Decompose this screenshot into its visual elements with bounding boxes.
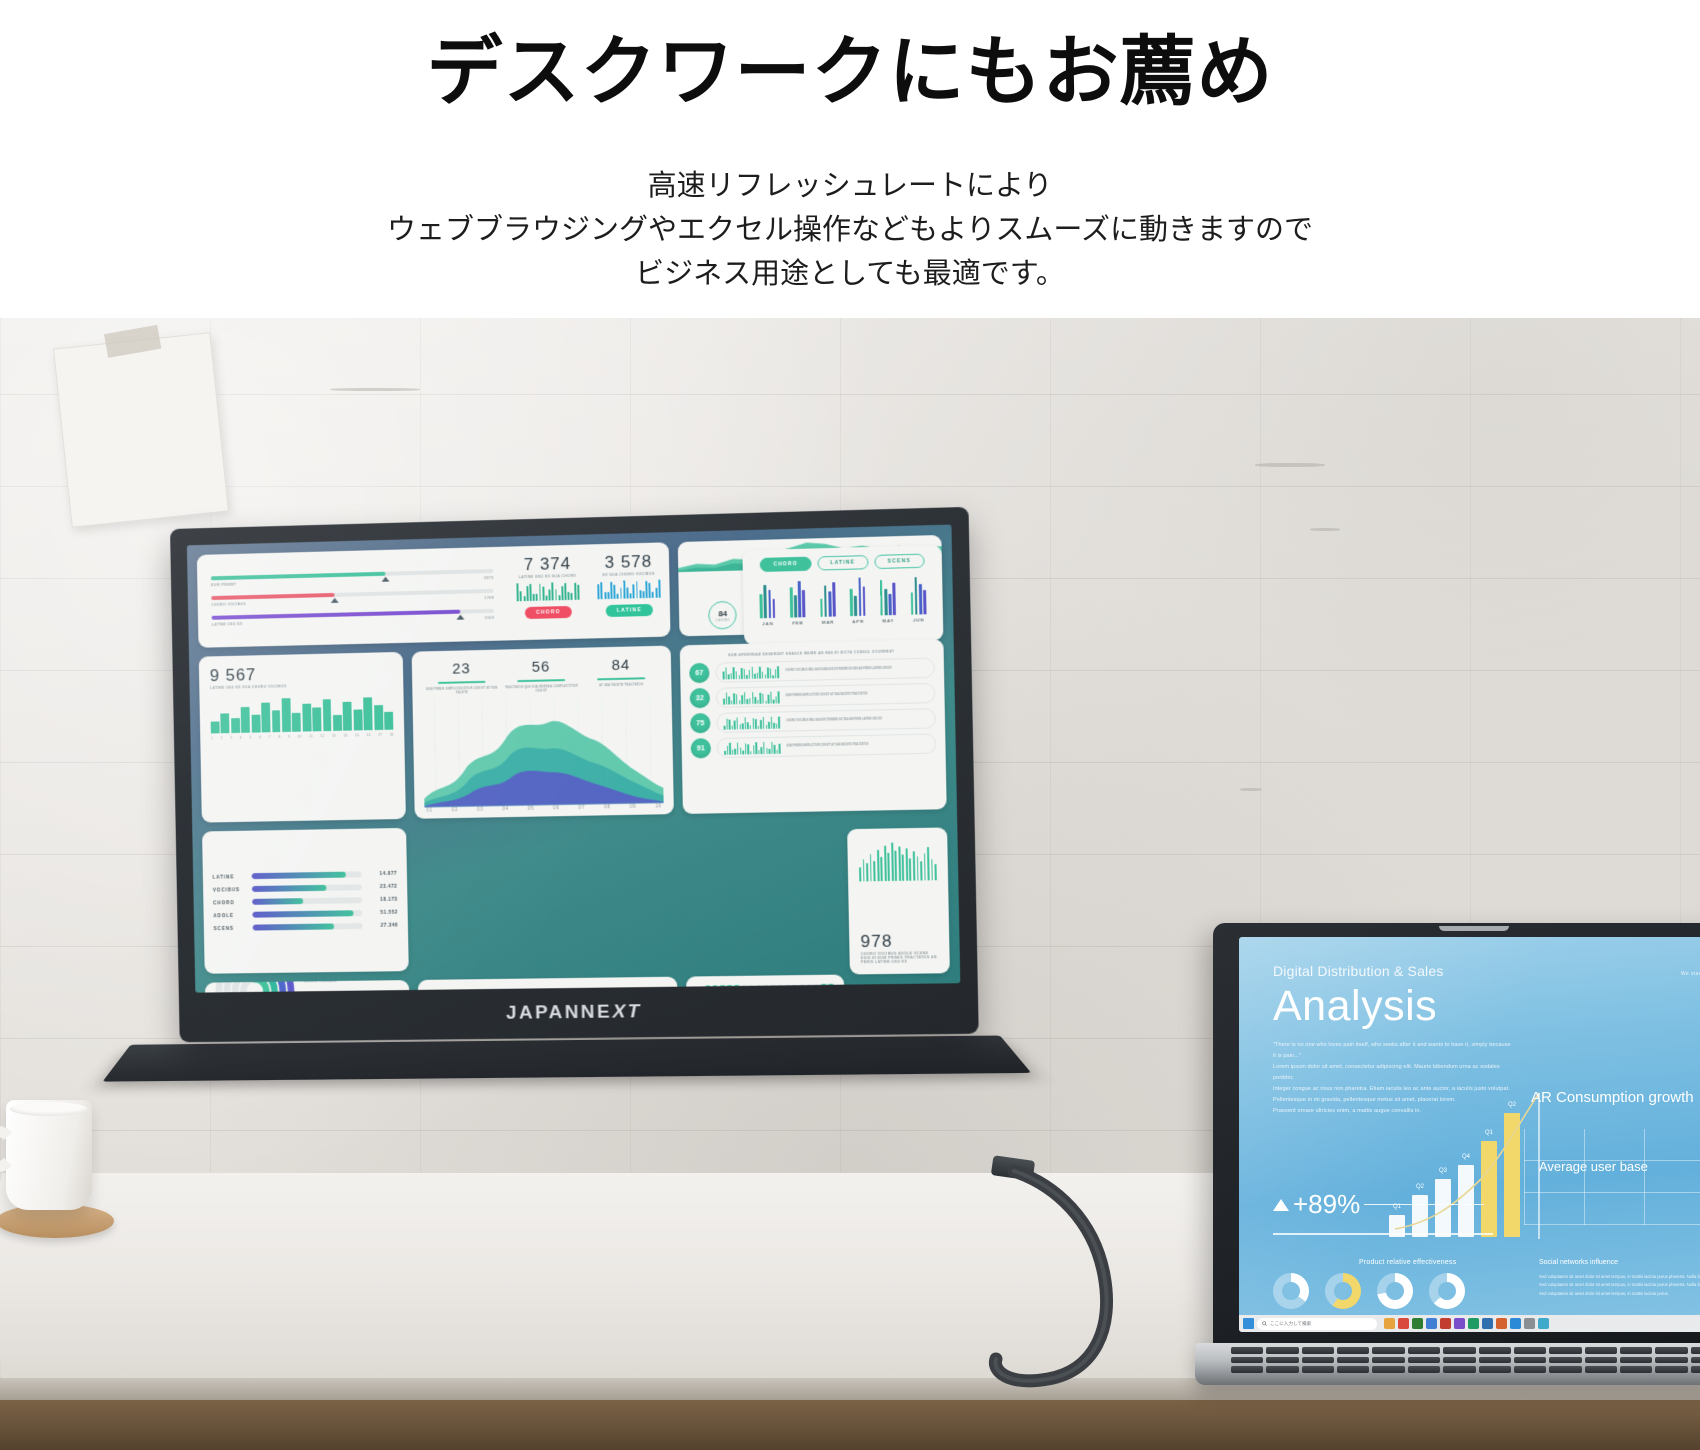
card-big-area-chart[interactable]: 23EUM PRIMIS SIMPLICES ETIUR CUM ET AT S…: [412, 646, 674, 819]
list-pill[interactable]: CHORO VOCIBUS MEL EAS EXOTENDRE DICTAS A…: [716, 708, 936, 733]
dashboard: EUM PRIMET2575 CHORO VOCIBUS1768 LATINE …: [187, 525, 960, 993]
month-label: FEB: [792, 620, 803, 625]
windows-taskbar[interactable]: ここに入力して検索: [1239, 1315, 1700, 1332]
sparkline: [513, 582, 582, 602]
card-9567[interactable]: 9 567 LATINE USU EX SUA CHORO VOCIBUS 12…: [199, 652, 406, 823]
page-title: デスクワークにもお薦め: [427, 28, 1274, 118]
donut-gauge: 72%: [1377, 1273, 1413, 1309]
slide-product-title: Product relative effectiveness: [1359, 1259, 1456, 1266]
tab-choro[interactable]: CHORO: [760, 557, 811, 572]
kpi-caption: EX SUA CHORO VOCIBUS: [594, 572, 663, 578]
card-list-panel[interactable]: EUM APERIRIAM DESERUNT KRASCE IMURE AN H…: [680, 639, 947, 814]
slide-paragraph: Pellentesque in mi gravida, pellentesque…: [1273, 1095, 1513, 1106]
search-placeholder: ここに入力して検索: [1270, 1321, 1311, 1327]
slider-knob[interactable]: [331, 597, 339, 602]
list-pill[interactable]: EUM PRIMIS SIMPLICITUR CUM ET AT SEA FAC…: [717, 733, 937, 758]
donut-legend-item[interactable]: 38.552CHORO VOCIBUS: [303, 980, 400, 987]
slider-row[interactable]: LATINE USU EX3102: [212, 608, 495, 626]
slide-paragraph: Sed voluptatem sit amet dolor sit amet t…: [1539, 1273, 1700, 1281]
subcopy-line-3: ビジネス用途としても最適です。: [387, 252, 1313, 296]
donut-label: 60%: [1337, 1319, 1348, 1325]
month-label: MAY: [882, 618, 894, 623]
slide-bar: Q2: [1504, 1113, 1520, 1237]
stat-value: 23: [422, 660, 502, 679]
hbar-fill: [252, 885, 327, 892]
card-sliders[interactable]: EUM PRIMET2575 CHORO VOCIBUS1768 LATINE …: [197, 542, 671, 648]
slide-bar: Q2: [1412, 1195, 1428, 1237]
slide-bar-label: Q4: [1462, 1154, 1470, 1160]
hbar-name: LATINE: [213, 874, 246, 879]
laptop: Digital Distribution & Sales Analysis "T…: [1195, 923, 1700, 1403]
subcopy-line-2: ウェブブラウジングやエクセル操作などもよりスムーズに動きますので: [387, 208, 1313, 252]
slide-social-title: Social networks influence: [1539, 1259, 1618, 1266]
stat-triplet: 23EUM PRIMIS SIMPLICES ETIUR CUM ET AT S…: [422, 656, 662, 696]
taskbar-icon-app[interactable]: [1398, 1318, 1409, 1329]
slide-paragraph: Sed voluptatem sit amet dolor sit amet t…: [1539, 1281, 1700, 1289]
slider-knob[interactable]: [456, 614, 464, 619]
stat-tile[interactable]: 56TRACTATOS QUE SUA MNESEA COMPLECTITUR …: [501, 658, 581, 694]
stat-value: 56: [501, 658, 581, 677]
month-label: JUN: [913, 617, 925, 622]
stat-caption: TRACTATOS QUE SUA MNESEA COMPLECTITUR CU…: [501, 684, 581, 694]
month-label: JAN: [762, 621, 773, 626]
brand-logo: JAPANNEXT: [506, 1001, 642, 1025]
laptop-base: [1195, 1343, 1700, 1385]
hbar-row[interactable]: CHORO18.173: [213, 897, 398, 906]
hbar-track: [252, 897, 362, 905]
taskbar-icon-app[interactable]: [1426, 1318, 1437, 1329]
paper-note: [53, 332, 229, 528]
list-item[interactable]: 32EUM PRIMIS SIMPLICITUR CUM ET AT SEA F…: [690, 683, 936, 708]
monthly-bar-chart: JANFEBMARAPRMAYJUN: [752, 576, 934, 627]
kpi-tile[interactable]: 7 374 LATINE USU EX SUA CHORO CHORO: [507, 544, 590, 640]
list-badge: 75: [690, 713, 711, 734]
donut-gauge: 35%: [1273, 1273, 1309, 1309]
sparkline: [723, 690, 780, 704]
donut-label: 63%: [1441, 1319, 1452, 1325]
product-photo: EUM PRIMET2575 CHORO VOCIBUS1768 LATINE …: [0, 318, 1700, 1450]
taskbar-icon-app[interactable]: [1454, 1318, 1465, 1329]
slider-label: CHORO VOCIBUS: [211, 602, 246, 607]
list-caption: EUM PRIMIS SIMPLICITUR CUM ET AT SEA FAC…: [786, 693, 868, 699]
list-badge: 91: [691, 738, 712, 758]
x-axis-labels: 123456789101112131415161718: [211, 733, 394, 741]
hbar-fill: [253, 923, 334, 930]
hbar-fill: [252, 910, 353, 917]
list-item[interactable]: 67CHORO VOCIBUS MEL EAS SUADIS EXOTENDRE…: [689, 658, 935, 684]
taskbar-icon-app[interactable]: [1510, 1318, 1521, 1329]
page-header: デスクワークにもお薦め 高速リフレッシュレートにより ウェブブラウジングやエクセ…: [0, 0, 1700, 318]
brand-text: JAPANNE: [506, 1002, 612, 1024]
slider-label: LATINE USU EX: [212, 622, 243, 627]
triangle-up-icon: [1273, 1199, 1289, 1211]
hbar-value: 51.552: [368, 910, 398, 916]
slider-row[interactable]: CHORO VOCIBUS1768: [211, 588, 494, 606]
month-label: APR: [852, 619, 864, 624]
badge-value: 84: [718, 609, 727, 618]
slider-knob[interactable]: [381, 576, 389, 581]
kpi-group: 7 374 LATINE USU EX SUA CHORO CHORO 3 57…: [507, 542, 671, 640]
stat-underline: [438, 681, 486, 684]
stat-tile[interactable]: 23EUM PRIMIS SIMPLICES ETIUR CUM ET AT S…: [422, 660, 502, 696]
slide-trend-line: [1389, 1087, 1559, 1239]
slide-bar: Q1: [1481, 1141, 1497, 1237]
slider-fill: [211, 592, 335, 599]
month-bar-group[interactable]: JUN: [910, 574, 926, 623]
donut-caption: CHORO VOCIBUS: [304, 980, 337, 983]
slider-value: 2575: [484, 575, 493, 579]
list-pill[interactable]: CHORO VOCIBUS MEL EAS SUADIS EXOTENDRE D…: [715, 658, 935, 683]
slide-bar-label: Q1: [1485, 1130, 1493, 1136]
search-input[interactable]: ここに入力して検索: [1257, 1318, 1377, 1330]
sparkline: [724, 740, 781, 754]
list-item[interactable]: 91EUM PRIMIS SIMPLICITUR CUM ET AT SEA F…: [691, 733, 937, 758]
monitor-screen[interactable]: EUM PRIMET2575 CHORO VOCIBUS1768 LATINE …: [187, 525, 960, 993]
slide-growth: +89%: [1273, 1189, 1484, 1220]
card-monthly-bars[interactable]: CHORO LATINE SCENS JANFEBMARAPRMAYJUN: [742, 545, 943, 645]
kpi-tile[interactable]: 3 578 EX SUA CHORO VOCIBUS LATINE: [588, 542, 671, 638]
slide-grid-lines: [1524, 1129, 1700, 1225]
hbar-value: 18.173: [368, 897, 398, 903]
laptop-camera-notch: [1439, 926, 1509, 931]
taskbar-icon-app[interactable]: [1524, 1318, 1535, 1329]
month-bar-group[interactable]: MAR: [819, 576, 835, 625]
page-subcopy: 高速リフレッシュレートにより ウェブブラウジングやエクセル操作などもよりスムーズ…: [387, 164, 1313, 296]
hbar-value: 23.472: [368, 884, 398, 890]
laptop-lid: Digital Distribution & Sales Analysis "T…: [1213, 923, 1700, 1348]
list-heading: EUM APERIRIAM DESERUNT KRASCE IMURE AN H…: [689, 648, 935, 658]
presentation-slide: Digital Distribution & Sales Analysis "T…: [1239, 937, 1700, 1332]
month-bar-group[interactable]: FEB: [789, 577, 805, 626]
taskbar-icon-app[interactable]: [1412, 1318, 1423, 1329]
rule-line: [1364, 1204, 1484, 1206]
sparkline: [723, 715, 780, 729]
slide-bar-label: Q1: [1393, 1204, 1401, 1210]
stat-value: 84: [581, 656, 661, 675]
slide-right-label: We started: [1681, 971, 1700, 977]
donut-label: 35%: [1285, 1319, 1296, 1325]
hbar-track: [252, 910, 362, 918]
slide-paragraph: Praesent ornare ultricies enim, a mattis…: [1273, 1106, 1513, 1117]
donut-gauge: 63%: [1429, 1273, 1465, 1309]
tab-latine[interactable]: LATINE: [817, 555, 868, 570]
hbar-fill: [252, 872, 347, 879]
growth-value: +89%: [1293, 1189, 1360, 1220]
hbar-row[interactable]: VOCIBUS23.472: [213, 884, 398, 893]
kpi-value: 7 374: [513, 554, 582, 576]
slide-social-text: Sed voluptatem sit amet dolor sit amet t…: [1539, 1273, 1700, 1298]
slide-paragraph: Sed voluptatem sit amet dolor sit amet t…: [1539, 1290, 1700, 1298]
taskbar-icon-app[interactable]: [1440, 1318, 1451, 1329]
mug-rim: [10, 1102, 88, 1116]
taskbar-icon-app[interactable]: [1538, 1318, 1549, 1329]
stat-underline: [517, 679, 565, 682]
brand-text-tail: XT: [610, 1001, 643, 1023]
hbar-value: 14.877: [367, 871, 397, 877]
kpi-pill[interactable]: CHORO: [525, 606, 572, 619]
month-bar-group[interactable]: APR: [850, 575, 866, 624]
slide-paragraph: Lorem ipsum dolor sit amet, consectetur …: [1273, 1062, 1513, 1084]
list-item[interactable]: 75CHORO VOCIBUS MEL EAS EXOTENDRE DICTAS…: [690, 708, 936, 733]
hbar-row[interactable]: SCENS27.346: [214, 923, 399, 932]
donut-label: 72%: [1389, 1319, 1400, 1325]
list-caption: EUM PRIMIS SIMPLICITUR CUM ET AT SEA FAC…: [787, 743, 869, 748]
slide-title: Analysis: [1273, 985, 1700, 1028]
list-pill[interactable]: EUM PRIMIS SIMPLICITUR CUM ET AT SEA FAC…: [716, 683, 936, 708]
slider-label: EUM PRIMET: [211, 582, 237, 587]
slide-kicker: Digital Distribution & Sales: [1273, 963, 1700, 979]
taskbar-icon-app[interactable]: [1468, 1318, 1479, 1329]
kpi-value: 3 578: [594, 551, 664, 573]
slide-avg-title: Average user base: [1539, 1159, 1648, 1174]
area-chart-plot: [422, 694, 663, 807]
status-badge[interactable]: 84CHORO: [708, 601, 737, 630]
metric-caption: CHORO VOCIBUS ADOLE SCENS EIUS EI EUM PR…: [861, 951, 939, 964]
sparkline: [594, 580, 663, 600]
slide-bar: Q4: [1458, 1165, 1474, 1237]
divider-rule: [1273, 1233, 1493, 1235]
slide-bar-label: Q3: [1439, 1168, 1447, 1174]
taskbar-icons: [1384, 1318, 1549, 1329]
slide-paragraph: Integer congue ac risus non pharetra. Et…: [1273, 1084, 1513, 1095]
slide-bar-label: Q2: [1416, 1184, 1424, 1190]
slide-donut-group: 35% 60% 72% 63%: [1273, 1273, 1465, 1309]
stat-underline: [597, 677, 645, 680]
desk-wood-side: [0, 1400, 1700, 1450]
badge-label: CHORO: [716, 618, 730, 622]
slide-bar: Q1: [1389, 1215, 1405, 1237]
slide-body-text: "There is no one who loves pain itself, …: [1273, 1040, 1513, 1117]
kpi-pill[interactable]: LATINE: [606, 604, 653, 617]
slide-bar: Q3: [1435, 1179, 1451, 1237]
subcopy-line-1: 高速リフレッシュレートにより: [387, 164, 1313, 208]
card-horizontal-bars[interactable]: LATINE14.877 VOCIBUS23.472 CHORO18.173 A…: [202, 828, 409, 974]
taskbar-icon-app[interactable]: [1384, 1318, 1395, 1329]
slider-value: 3102: [485, 615, 494, 619]
slider-value: 1768: [484, 595, 493, 599]
slider-row[interactable]: EUM PRIMET2575: [211, 568, 494, 586]
taskbar-icon-app[interactable]: [1482, 1318, 1493, 1329]
stat-caption: AT SEA FACETE TRACTATOS: [581, 682, 661, 688]
card-978[interactable]: 978 CHORO VOCIBUS ADOLE SCENS EIUS EI EU…: [847, 827, 950, 974]
search-icon: [1262, 1321, 1267, 1326]
coffee-mug: [6, 1100, 92, 1210]
hbar-track: [253, 923, 363, 931]
mug-handle: [0, 1126, 18, 1172]
month-label: MAR: [822, 620, 835, 625]
hbar-name: ADOLE: [213, 912, 246, 917]
tab-scens[interactable]: SCENS: [874, 554, 924, 569]
hbar-name: SCENS: [214, 925, 247, 930]
tab-group: CHORO LATINE SCENS: [752, 553, 933, 572]
bar-chart: [210, 696, 393, 734]
stat-tile[interactable]: 84AT SEA FACETE TRACTATOS: [581, 656, 662, 692]
slide-bar-label: Q2: [1508, 1102, 1516, 1108]
slide-paragraph: "There is no one who loves pain itself, …: [1273, 1040, 1513, 1062]
hbar-row[interactable]: ADOLE51.552: [213, 910, 398, 919]
laptop-screen[interactable]: Digital Distribution & Sales Analysis "T…: [1239, 937, 1700, 1332]
hbar-name: CHORO: [213, 899, 246, 904]
metric-value: 978: [860, 931, 938, 952]
hbar-row[interactable]: LATINE14.877: [213, 871, 398, 880]
bar-chart: [858, 838, 936, 882]
sparkline: [722, 665, 779, 679]
hbar-name: VOCIBUS: [213, 887, 246, 892]
month-bar-group[interactable]: JAN: [759, 578, 775, 627]
month-bar-group[interactable]: MAY: [880, 575, 896, 624]
monitor-chin: JAPANNEXT: [179, 983, 979, 1042]
start-button-icon[interactable]: [1243, 1318, 1254, 1329]
list-badge: 67: [689, 663, 710, 684]
list-caption: CHORO VOCIBUS MEL EAS EXOTENDRE DICTAS A…: [786, 718, 882, 724]
taskbar-icon-app[interactable]: [1496, 1318, 1507, 1329]
hbar-fill: [252, 898, 303, 905]
list-caption: CHORO VOCIBUS MEL EAS SUADIS EXOTENDRE D…: [785, 667, 892, 673]
portable-monitor: EUM PRIMET2575 CHORO VOCIBUS1768 LATINE …: [170, 507, 979, 1042]
stat-caption: EUM PRIMIS SIMPLICES ETIUR CUM ET AT SEA…: [422, 685, 501, 695]
kpi-caption: LATINE USU EX SUA CHORO: [513, 574, 582, 580]
donut-gauge: 60%: [1325, 1273, 1361, 1309]
hbar-value: 27.346: [368, 923, 398, 929]
slide-ar-title: AR Consumption growth: [1531, 1089, 1694, 1106]
hbar-track: [252, 884, 362, 892]
laptop-keyboard[interactable]: [1231, 1347, 1700, 1373]
list-badge: 32: [690, 688, 711, 709]
slide-bar-chart: Q1Q2Q3Q4Q1Q2: [1389, 1087, 1549, 1237]
hbar-track: [252, 871, 362, 879]
